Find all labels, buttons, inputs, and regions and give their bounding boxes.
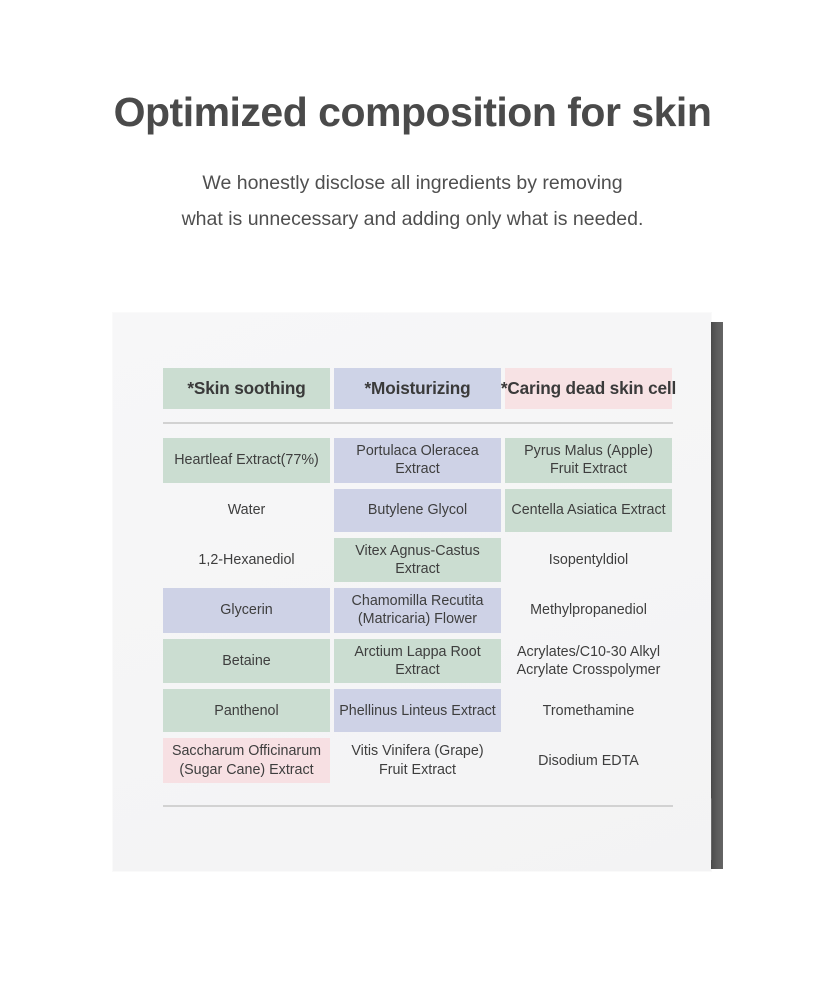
subtitle-line-2: what is unnecessary and adding only what… <box>0 202 825 237</box>
card-sheet: *Skin soothing *Moisturizing *Caring dea… <box>113 313 711 871</box>
table-header-divider <box>163 422 673 424</box>
table-cell: 1,2-Hexanediol <box>163 538 330 583</box>
table-cell: Panthenol <box>163 689 330 732</box>
table-cell: Isopentyldiol <box>505 538 672 583</box>
table-cell: Vitex Agnus-Castus Extract <box>334 538 501 583</box>
table-row: Heartleaf Extract(77%) Portulaca Olerace… <box>163 438 673 483</box>
table-row: Panthenol Phellinus Linteus Extract Trom… <box>163 689 673 732</box>
table-header-moisturizing: *Moisturizing <box>334 368 501 409</box>
table-cell: Butylene Glycol <box>334 489 501 532</box>
table-cell: Water <box>163 489 330 532</box>
table-row: 1,2-Hexanediol Vitex Agnus-Castus Extrac… <box>163 538 673 583</box>
table-header-caring-dead-skin-cell: *Caring dead skin cell <box>505 368 672 409</box>
table-cell: Heartleaf Extract(77%) <box>163 438 330 483</box>
table-cell: Vitis Vinifera (Grape) Fruit Extract <box>334 738 501 783</box>
table-cell: Methylpropanediol <box>505 588 672 633</box>
card-shadow-right <box>711 322 723 869</box>
table-cell: Tromethamine <box>505 689 672 732</box>
table-cell: Arctium Lappa Root Extract <box>334 639 501 684</box>
table-cell: Betaine <box>163 639 330 684</box>
table-cell: Centella Asiatica Extract <box>505 489 672 532</box>
table-cell: Saccharum Officinarum (Sugar Cane) Extra… <box>163 738 330 783</box>
page-title: Optimized composition for skin <box>0 88 825 136</box>
table-row: Glycerin Chamomilla Recutita (Matricaria… <box>163 588 673 633</box>
table-cell: Pyrus Malus (Apple) Fruit Extract <box>505 438 672 483</box>
table-header-row: *Skin soothing *Moisturizing *Caring dea… <box>163 368 673 409</box>
ingredient-card: *Skin soothing *Moisturizing *Caring dea… <box>113 313 723 893</box>
subtitle-line-1: We honestly disclose all ingredients by … <box>0 166 825 201</box>
ingredient-table: *Skin soothing *Moisturizing *Caring dea… <box>163 368 673 807</box>
table-cell: Glycerin <box>163 588 330 633</box>
table-cell: Acrylates/C10-30 Alkyl Acrylate Crosspol… <box>505 639 672 684</box>
page-root: Optimized composition for skin We honest… <box>0 0 825 1000</box>
table-row: Betaine Arctium Lappa Root Extract Acryl… <box>163 639 673 684</box>
table-row: Water Butylene Glycol Centella Asiatica … <box>163 489 673 532</box>
table-footer-divider <box>163 805 673 807</box>
table-cell: Phellinus Linteus Extract <box>334 689 501 732</box>
table-header-skin-soothing: *Skin soothing <box>163 368 330 409</box>
table-cell: Chamomilla Recutita (Matricaria) Flower <box>334 588 501 633</box>
table-cell: Portulaca Oleracea Extract <box>334 438 501 483</box>
table-cell: Disodium EDTA <box>505 738 672 783</box>
header-block: Optimized composition for skin We honest… <box>0 88 825 237</box>
page-subtitle: We honestly disclose all ingredients by … <box>0 166 825 237</box>
table-row: Saccharum Officinarum (Sugar Cane) Extra… <box>163 738 673 783</box>
